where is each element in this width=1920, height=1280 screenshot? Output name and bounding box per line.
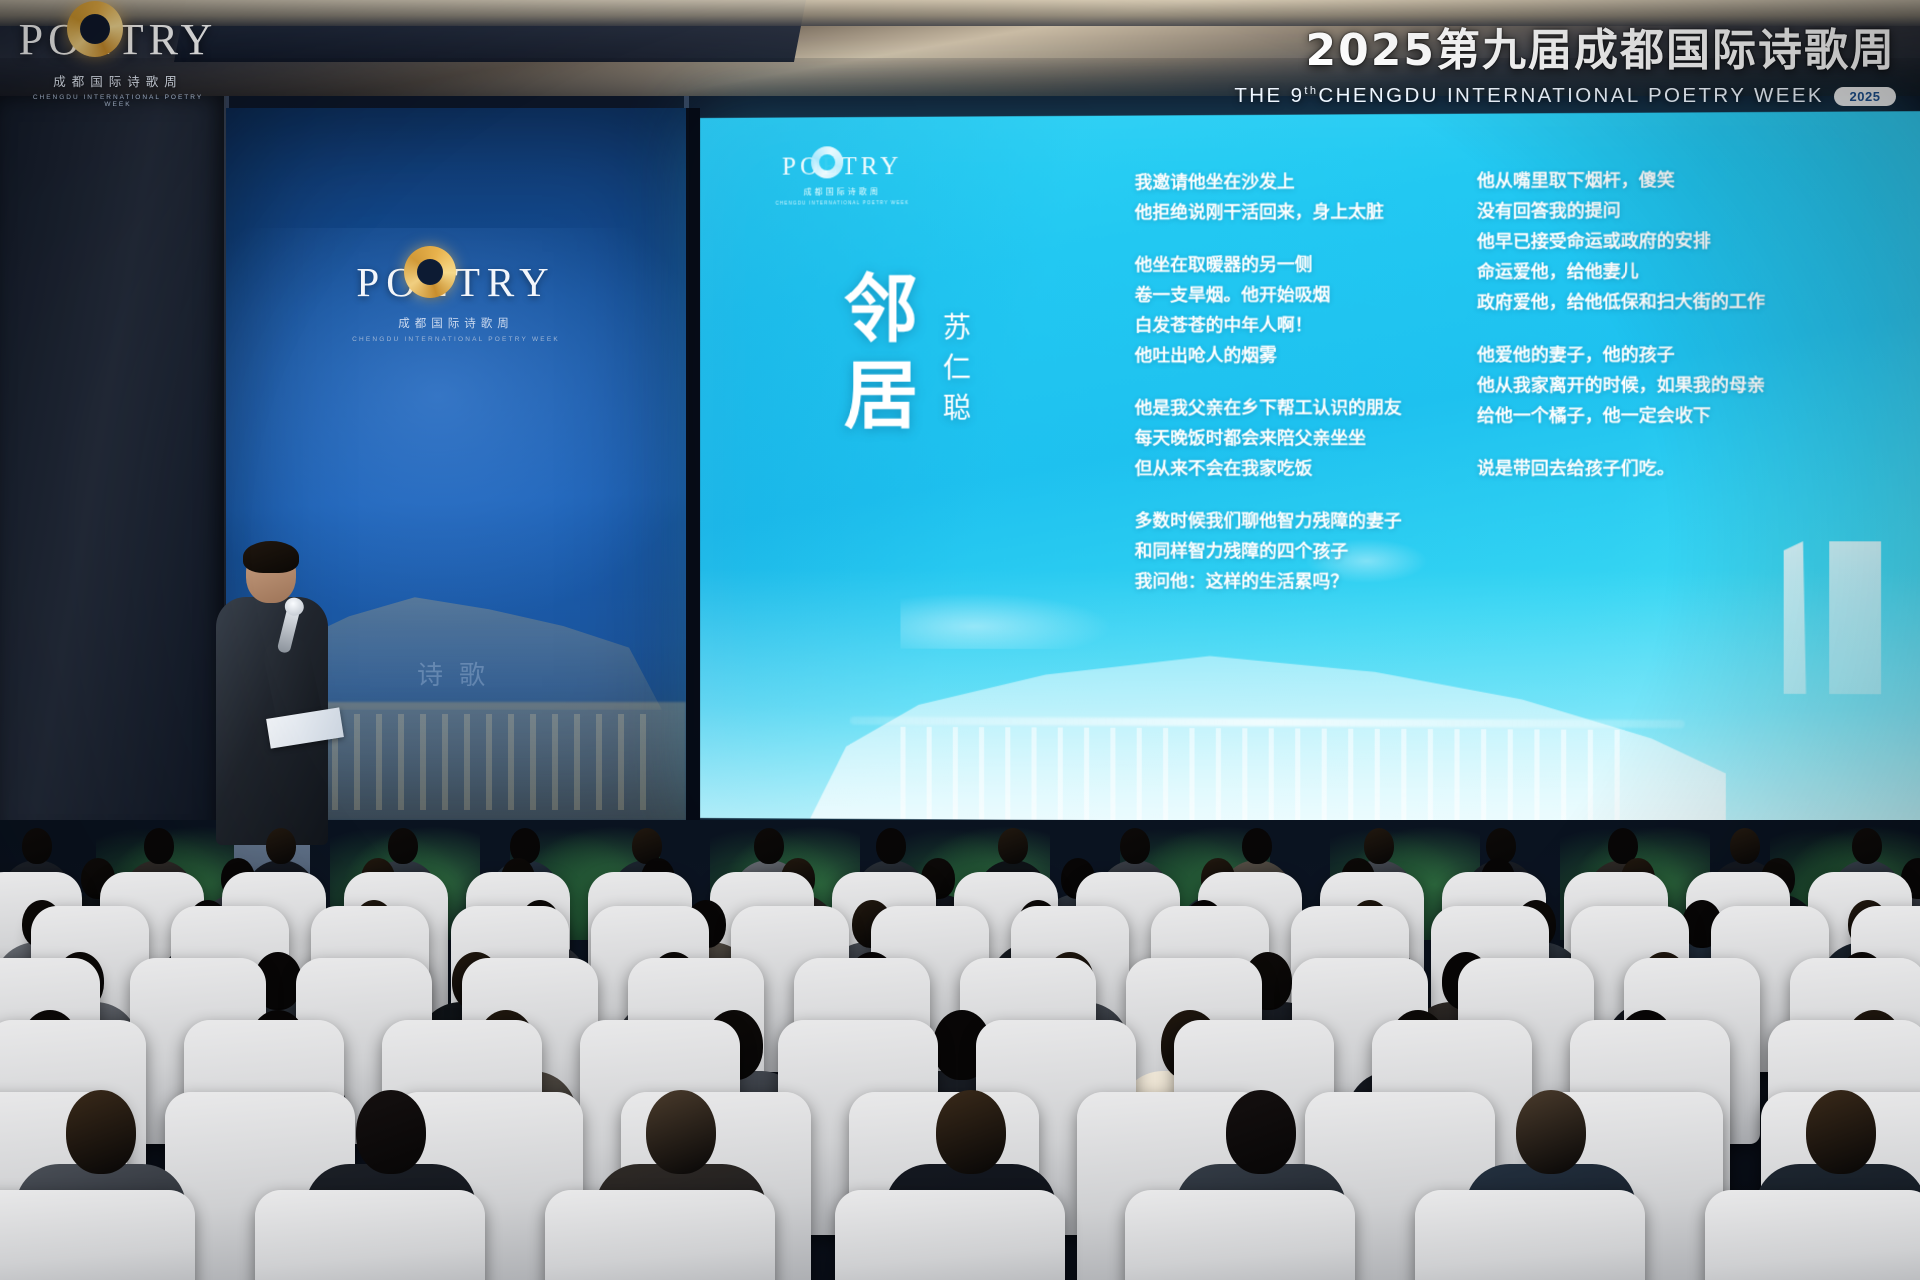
poem-line: 每天晚饭时都会来陪父亲坐坐 — [1135, 424, 1402, 454]
screen-poetry-logo: POETRY 成都国际诗歌周 CHENGDU INTERNATIONAL POE… — [752, 153, 933, 206]
poem-column-left: 我邀请他坐在沙发上他拒绝说刚干活回来，身上太脏他坐在取暖器的另一侧卷一支旱烟。他… — [1135, 167, 1402, 620]
poem-stanza: 他爱他的妻子，他的孩子他从我家离开的时候，如果我的母亲给他一个橘子，他一定会收下 — [1477, 340, 1765, 432]
poem-line: 他从我家离开的时候，如果我的母亲 — [1477, 370, 1765, 401]
overlay-logo-wordmark: POETRY — [19, 14, 218, 65]
audience-chair — [545, 1190, 775, 1280]
poem-line: 他是我父亲在乡下帮工认识的朋友 — [1135, 393, 1402, 424]
overlay-logo-cn: 成都国际诗歌周 — [18, 71, 218, 90]
poem-line: 他从嘴里取下烟杆，傻笑 — [1477, 165, 1765, 197]
poetry-ring-icon — [811, 146, 843, 178]
backdrop-logo-en: CHENGDU INTERNATIONAL POETRY WEEK — [306, 336, 606, 343]
backdrop-logo-cn: 成都国际诗歌周 — [306, 315, 606, 331]
event-title-en: THE 9thCHENGDU INTERNATIONAL POETRY WEEK — [1234, 84, 1824, 108]
backdrop-logo-wordmark: POETRY — [356, 258, 555, 306]
poem-title: 邻居 — [828, 269, 920, 442]
poem-stanza: 他是我父亲在乡下帮工认识的朋友每天晚饭时都会来陪父亲坐坐但从来不会在我家吃饭 — [1135, 393, 1402, 484]
poem-line: 我问他：这样的生活累吗？ — [1135, 567, 1402, 598]
screen-logo-wordmark: POETRY — [782, 153, 902, 182]
audience-chair — [1705, 1190, 1920, 1280]
poem-line: 他拒绝说刚干活回来，身上太脏 — [1135, 197, 1402, 228]
event-title-en-prefix: THE 9 — [1234, 84, 1304, 107]
audience-chair — [835, 1190, 1065, 1280]
audience-member-head — [1806, 1090, 1876, 1174]
audience-member-head — [936, 1090, 1006, 1174]
poetry-ring-icon — [404, 246, 456, 298]
poem-line: 他吐出呛人的烟雾 — [1135, 341, 1402, 372]
poem-line: 他坐在取暖器的另一侧 — [1135, 250, 1402, 281]
poem-line: 但从来不会在我家吃饭 — [1135, 454, 1402, 484]
poem-line: 和同样智力残障的四个孩子 — [1135, 536, 1402, 567]
poem-stanza: 他坐在取暖器的另一侧卷一支旱烟。他开始吸烟白发苍苍的中年人啊！他吐出呛人的烟雾 — [1135, 250, 1402, 372]
overlay-logo-en: CHENGDU INTERNATIONAL POETRY WEEK — [18, 94, 218, 108]
poem-line: 命运爱他，给他妻儿 — [1477, 256, 1765, 287]
screen-logo-cn: 成都国际诗歌周 — [752, 186, 933, 198]
poetry-ring-icon — [67, 1, 123, 57]
event-title-cn: 2025第九届成都国际诗歌周 — [1234, 14, 1896, 78]
overlay-poetry-logo: POETRY 成都国际诗歌周 CHENGDU INTERNATIONAL POE… — [18, 14, 218, 108]
overlay-event-title: 2025第九届成都国际诗歌周 THE 9thCHENGDU INTERNATIO… — [1234, 14, 1896, 108]
audience-member-head — [1516, 1090, 1586, 1174]
audience-chair — [1415, 1190, 1645, 1280]
backdrop-poetry-logo: POETRY 成都国际诗歌周 CHENGDU INTERNATIONAL POE… — [306, 258, 606, 343]
poem-line: 政府爱他，给他低保和扫大街的工作 — [1477, 287, 1765, 318]
audience-member-head — [356, 1090, 426, 1174]
audience-member-head — [1226, 1090, 1296, 1174]
audience-chair — [0, 1190, 195, 1280]
event-title-en-sup: th — [1304, 85, 1318, 97]
poem-line: 白发苍苍的中年人啊！ — [1135, 310, 1402, 341]
poem-line: 我邀请他坐在沙发上 — [1135, 167, 1402, 198]
poem-stanza: 他从嘴里取下烟杆，傻笑没有回答我的提问他早已接受命运或政府的安排命运爱他，给他妻… — [1477, 165, 1765, 318]
wall-panel-left — [0, 96, 226, 840]
audience-member-head — [66, 1090, 136, 1174]
poem-line: 说是带回去给孩子们吃。 — [1477, 454, 1765, 485]
poem-line: 他爱他的妻子，他的孩子 — [1477, 340, 1765, 371]
poem-author: 苏仁聪 — [931, 312, 979, 433]
stage-photo: 诗歌 POETRY 成都国际诗歌周 CHENGDU INTERNATIONAL … — [0, 0, 1920, 1280]
audience-chair — [1125, 1190, 1355, 1280]
audience-chair — [255, 1190, 485, 1280]
poem-line: 没有回答我的提问 — [1477, 195, 1765, 227]
poem-line: 他早已接受命运或政府的安排 — [1477, 226, 1765, 257]
screen-logo-en: CHENGDU INTERNATIONAL POETRY WEEK — [752, 200, 933, 206]
audience-member-head — [646, 1090, 716, 1174]
poem-line: 多数时候我们聊他智力残障的妻子 — [1135, 506, 1402, 536]
poem-column-right: 他从嘴里取下烟杆，傻笑没有回答我的提问他早已接受命运或政府的安排命运爱他，给他妻… — [1477, 165, 1765, 507]
poem-stanza: 说是带回去给孩子们吃。 — [1477, 454, 1765, 485]
poem-line: 给他一个橘子，他一定会收下 — [1477, 401, 1765, 432]
year-badge: 2025 — [1834, 87, 1896, 106]
speaker-presenter — [212, 545, 332, 845]
event-title-en-rest: CHENGDU INTERNATIONAL POETRY WEEK — [1318, 84, 1824, 107]
poem-line: 卷一支旱烟。他开始吸烟 — [1135, 280, 1402, 311]
speaker-hair — [243, 541, 299, 573]
poem-stanza: 多数时候我们聊他智力残障的妻子和同样智力残障的四个孩子我问他：这样的生活累吗？ — [1135, 506, 1402, 597]
audience-member-head — [998, 828, 1028, 864]
poem-stanza: 我邀请他坐在沙发上他拒绝说刚干活回来，身上太脏 — [1135, 167, 1402, 229]
screen-tower-right — [1829, 541, 1881, 694]
led-presentation-screen: POETRY 成都国际诗歌周 CHENGDU INTERNATIONAL POE… — [700, 111, 1920, 825]
event-title-en-row: THE 9thCHENGDU INTERNATIONAL POETRY WEEK… — [1234, 84, 1896, 108]
